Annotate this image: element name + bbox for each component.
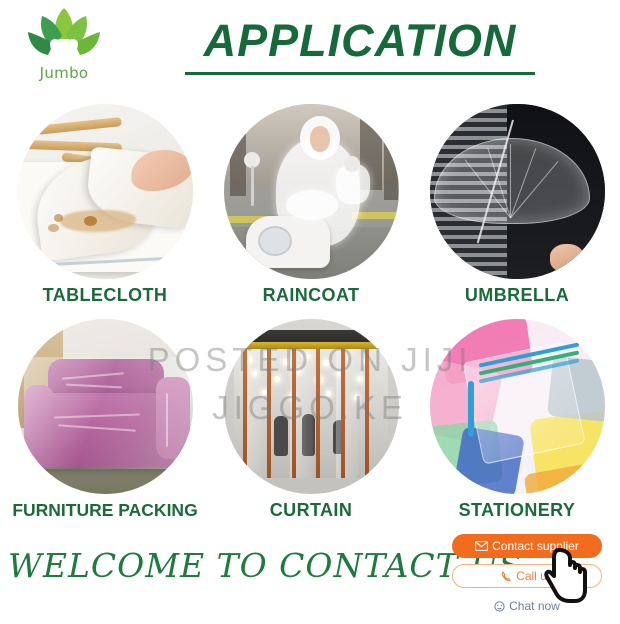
caption-label: FURNITURE PACKING bbox=[2, 500, 208, 521]
umbrella-image bbox=[430, 104, 605, 279]
grid-cell-stationery[interactable]: STATIONERY bbox=[414, 319, 620, 521]
caption-label: STATIONERY bbox=[414, 500, 620, 521]
smiley-icon bbox=[494, 601, 505, 612]
grid-cell-raincoat[interactable]: RAINCOAT bbox=[208, 104, 414, 306]
phone-icon bbox=[501, 571, 512, 582]
welcome-message: WELCOME TO CONTACT US bbox=[8, 546, 458, 585]
grid-row: FURNITURE PACKING bbox=[0, 319, 620, 534]
caption-label: UMBRELLA bbox=[414, 285, 620, 306]
hand-pointer-cursor bbox=[544, 546, 588, 604]
title-underline bbox=[185, 72, 535, 75]
page-footer: WELCOME TO CONTACT US Contact supplier C… bbox=[0, 534, 620, 620]
grid-cell-tablecloth[interactable]: TABLECLOTH bbox=[2, 104, 208, 306]
page-title-block: APPLICATION bbox=[150, 12, 570, 75]
curtain-image bbox=[224, 319, 399, 494]
contact-actions: Contact supplier Call us Chat now bbox=[452, 534, 602, 624]
brand-name: Jumbo bbox=[14, 64, 114, 82]
envelope-icon bbox=[475, 541, 488, 551]
grid-cell-curtain[interactable]: CURTAIN bbox=[208, 319, 414, 521]
caption-label: RAINCOAT bbox=[208, 285, 414, 306]
grid-row: TABLECLOTH bbox=[0, 104, 620, 319]
raincoat-image bbox=[224, 104, 399, 279]
page-title: APPLICATION bbox=[150, 12, 570, 70]
page-header: Jumbo APPLICATION bbox=[0, 0, 620, 100]
application-grid: TABLECLOTH bbox=[0, 104, 620, 534]
grid-cell-umbrella[interactable]: UMBRELLA bbox=[414, 104, 620, 306]
tablecloth-image bbox=[18, 104, 193, 279]
caption-label: CURTAIN bbox=[208, 500, 414, 521]
stationery-image bbox=[430, 319, 605, 494]
lotus-flower-icon bbox=[22, 6, 106, 68]
caption-label: TABLECLOTH bbox=[2, 285, 208, 306]
furniture-packing-image bbox=[18, 319, 193, 494]
grid-cell-furniture-packing[interactable]: FURNITURE PACKING bbox=[2, 319, 208, 521]
brand-logo: Jumbo bbox=[14, 6, 114, 94]
